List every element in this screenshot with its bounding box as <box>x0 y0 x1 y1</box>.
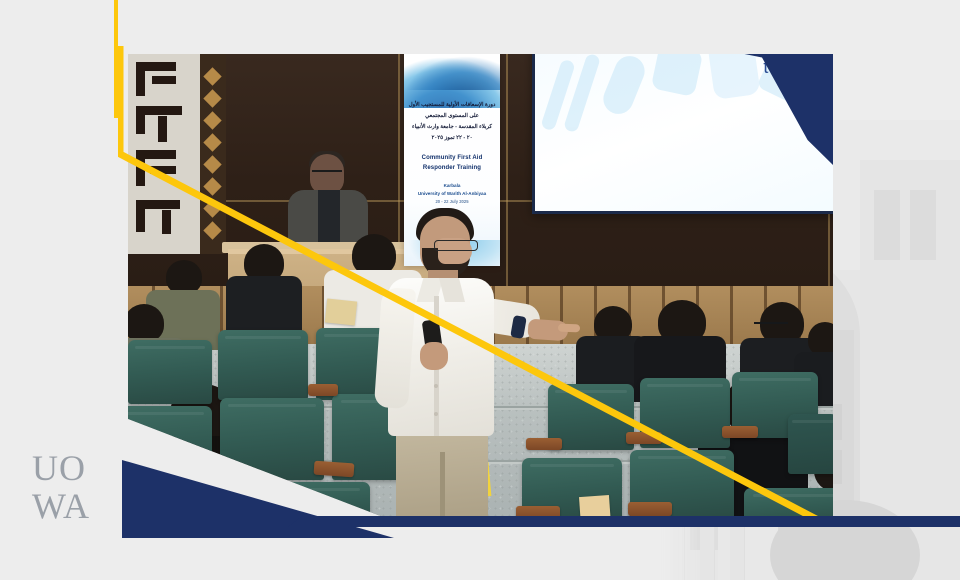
armrest <box>626 432 662 444</box>
armrest <box>314 461 355 478</box>
armrest <box>722 426 758 438</box>
yellow-accent-rule <box>114 0 118 118</box>
handout-paper <box>325 298 357 325</box>
audience-head <box>166 260 202 294</box>
podium-speaker-glasses <box>312 170 342 178</box>
banner-arabic-line-3: كربلاء المقدسة - جامعة وارث الأنبياء <box>404 122 500 133</box>
seat <box>788 414 833 474</box>
seat <box>250 482 370 522</box>
banner-university: University of Warith Al-Anbiyaa <box>404 190 500 198</box>
logo-line-1: UO <box>32 450 116 486</box>
audience-head <box>808 322 833 356</box>
speaker-glasses-icon <box>434 240 478 251</box>
podium-speaker-shirt <box>318 190 340 244</box>
banner-title-line-1: Community First Aid <box>404 154 500 164</box>
banner-arabic-line-4: ٢٠ - ٢٢ تموز ٢٠٢٥ <box>404 133 500 144</box>
audience-glasses-icon <box>754 322 788 332</box>
armrest <box>628 502 672 516</box>
seat <box>128 340 212 404</box>
banner-arabic-line-2: على المستوى المجتمعي <box>404 111 500 122</box>
event-photo: to worse outc <box>128 54 833 522</box>
audience-torso <box>226 276 302 334</box>
speaker-left-hand <box>420 342 448 370</box>
banner-title-line-2: Responder Training <box>404 164 500 174</box>
event-photo-frame: to worse outc <box>128 54 833 522</box>
seat <box>744 488 833 522</box>
poster-canvas: to worse outc <box>0 0 960 580</box>
armrest <box>308 384 338 396</box>
logo-line-2: WA <box>32 488 116 524</box>
ornament-band <box>200 54 226 254</box>
handout-paper <box>579 495 611 522</box>
seat <box>128 406 212 482</box>
armrest <box>526 438 562 450</box>
kufic-wall-panel <box>128 54 209 254</box>
armrest <box>516 506 560 520</box>
seat <box>220 398 324 480</box>
banner-city: Karbala <box>404 182 500 190</box>
uowa-logo: UO WA <box>32 450 116 530</box>
audience-head <box>128 304 164 342</box>
pointing-finger <box>558 324 580 333</box>
seat <box>218 330 308 400</box>
banner-arabic-line-1: دورة الإسعافات الأولية للمستجيب الأول <box>404 100 500 111</box>
